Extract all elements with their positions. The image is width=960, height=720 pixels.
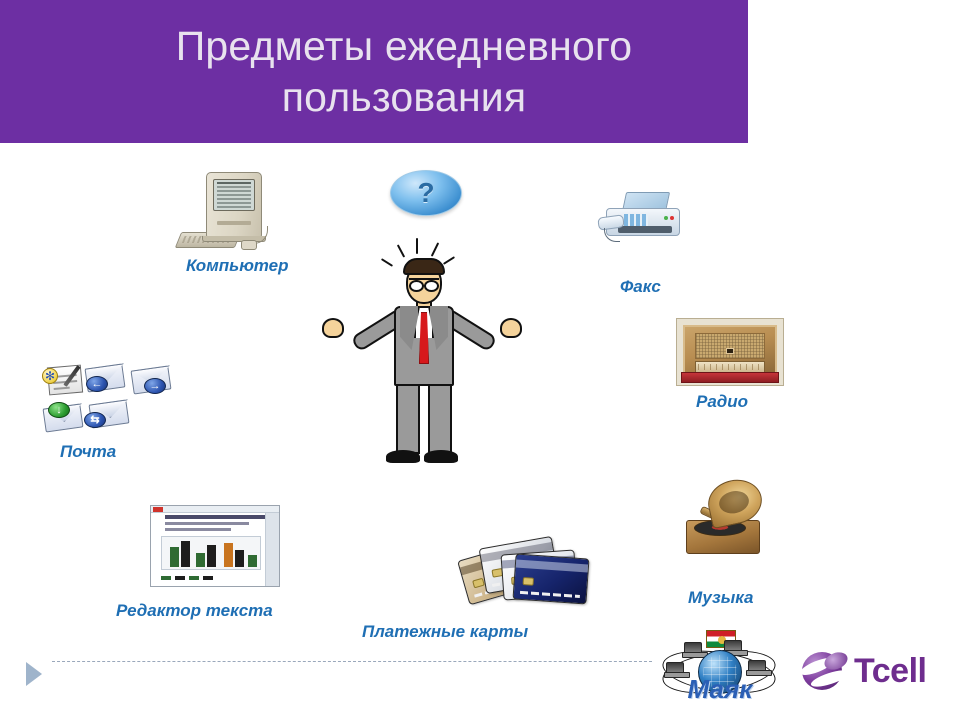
caption-radio: Радио xyxy=(696,392,748,412)
question-mark-glyph: ? xyxy=(417,179,434,207)
mayak-network-logo: Маяк xyxy=(660,628,780,710)
vintage-radio-icon xyxy=(676,318,784,386)
mayak-logo-text: Маяк xyxy=(660,674,780,705)
vintage-computer-icon xyxy=(178,172,288,252)
gramophone-icon xyxy=(678,480,776,564)
confused-man-shrugging-icon xyxy=(308,242,538,472)
tcell-logo: Tcell xyxy=(800,643,940,699)
text-document-icon xyxy=(150,505,280,587)
caption-music: Музыка xyxy=(688,588,754,608)
caption-text-editor: Редактор текста xyxy=(116,601,273,621)
page-title: Предметы ежедневного пользования xyxy=(104,21,704,121)
caption-payment-cards: Платежные карты xyxy=(362,622,528,642)
title-banner: Предметы ежедневного пользования xyxy=(0,0,748,143)
payment-cards-icon xyxy=(462,540,590,602)
caption-mail: Почта xyxy=(60,442,116,462)
mail-envelopes-icon: ← → ↓ ⇆ xyxy=(34,362,174,440)
tcell-globe-icon xyxy=(800,649,848,693)
footer-divider xyxy=(52,661,652,662)
question-mark-icon: ? xyxy=(390,170,462,218)
caption-computer: Компьютер xyxy=(186,256,288,276)
tcell-logo-text: Tcell xyxy=(854,652,926,691)
slide-canvas: Предметы ежедневного пользования Компьют… xyxy=(0,0,960,720)
fax-machine-icon xyxy=(598,186,686,248)
footer-arrow-icon xyxy=(26,662,42,686)
caption-fax: Факс xyxy=(620,277,661,297)
